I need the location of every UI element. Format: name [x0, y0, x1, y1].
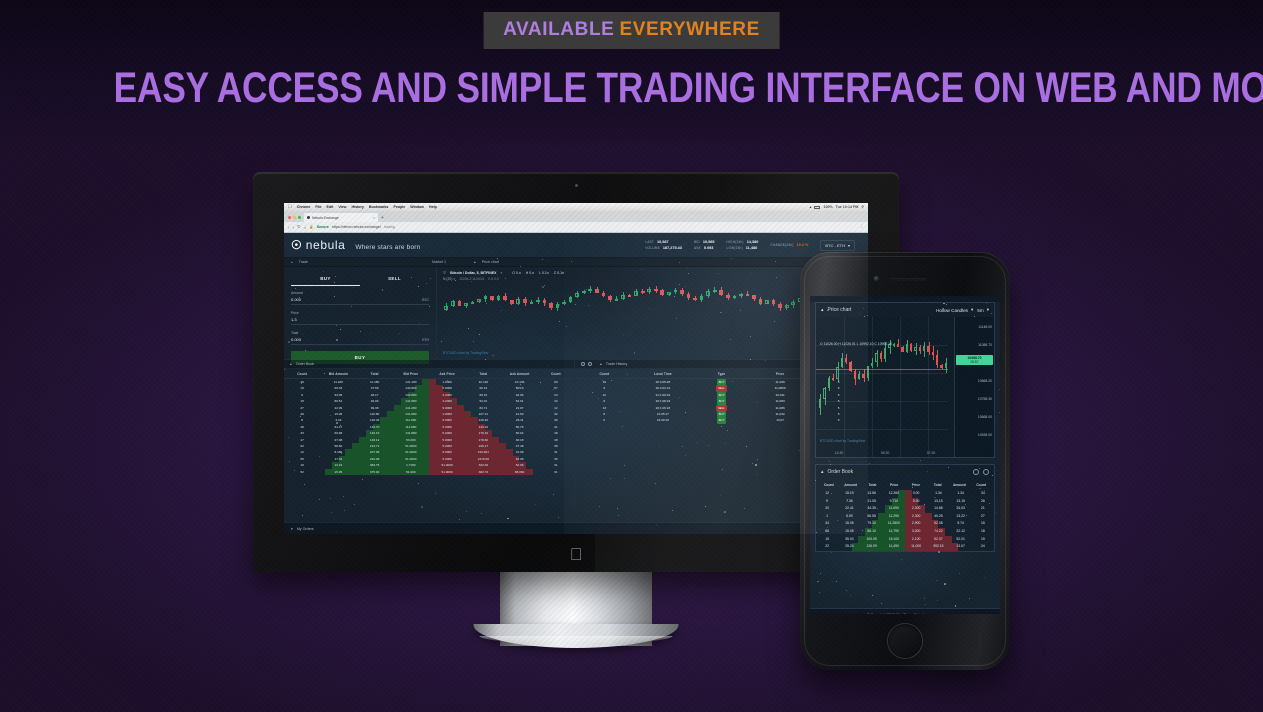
phone-ob-cell: 86.10: [861, 528, 883, 536]
home-icon[interactable]: ⌂: [304, 225, 307, 230]
price-chart-collapse-icon[interactable]: ▴: [474, 260, 476, 264]
order-book-columns: CountBid AmountTotalBid PriceAsk PriceTo…: [284, 369, 574, 379]
phone-ob-col-7: Count: [970, 483, 992, 487]
chevron-down-icon[interactable]: ▾: [500, 271, 502, 275]
tab-favicon: [307, 216, 310, 219]
history-price: 13,07: [751, 417, 810, 423]
phone-front-camera-icon: [874, 276, 879, 281]
phone-ob-cell: 13,15: [950, 498, 972, 506]
brand-tagline: Where stars are born: [355, 244, 420, 251]
order-book-col-4: Ask Price: [429, 372, 465, 376]
chart-credit-link[interactable]: BTCUSD chart by TradingView: [443, 351, 488, 355]
history-time: 21:00:10: [634, 417, 693, 423]
mac-menubar[interactable]:  Chrome File Edit View History Bookmark…: [284, 203, 868, 211]
ticker-label-change: CHANGE(24h): [770, 243, 793, 247]
trade-history-col-1: Local Time: [634, 372, 693, 376]
brand-name: nebula: [306, 238, 346, 252]
phone-ob-cell: 22.41: [838, 505, 860, 513]
phone-price-chart-collapse-icon[interactable]: ▴: [821, 307, 824, 313]
phone-ob-cell: 15.19: [838, 490, 860, 498]
exchange-app: ☉ nebula Where stars are born LAST10,987…: [284, 233, 868, 534]
trading-workspace: BUY SELL Amount 0.000 BTC: [284, 267, 868, 359]
order-book-collapse-icon[interactable]: ▴: [290, 362, 292, 366]
phone-ob-cell: 11.690: [883, 505, 905, 513]
phone-ob-cell: 35.03: [838, 536, 860, 544]
ticker-group-change: CHANGE(24h)10.3 %: [770, 243, 808, 247]
phone-axis-price: 11148.00: [978, 325, 992, 329]
phone-axis-price: 10668.00: [978, 415, 992, 419]
phone-ob-cell: 25.24: [838, 543, 860, 551]
phone-ob-col-5: Total: [927, 483, 949, 487]
candle-type-select[interactable]: Hollow Candles ▾: [936, 307, 973, 313]
brand-logo[interactable]: ☉ nebula Where stars are born: [291, 238, 420, 252]
phone-ob-cell: 100.05: [861, 536, 883, 544]
order-book-col-0: Count: [284, 372, 320, 376]
new-tab-button[interactable]: +: [381, 215, 384, 222]
phone-ob-cell: 1.34: [950, 490, 972, 498]
phone-ob-col-3: Price: [883, 483, 905, 487]
phone-ob-cell: 2,300: [905, 513, 927, 521]
browser-tabstrip[interactable]: Nebula Exchange × +: [284, 211, 868, 222]
app-subbar: ▴ Trade Market 1 ▴ Price chart: [284, 258, 868, 267]
menubar-item-view[interactable]: View: [338, 205, 346, 209]
phone-axis-time: 07:30: [927, 451, 936, 455]
chevron-down-icon: ▾: [971, 307, 973, 313]
phone-ob-col-6: Amount: [949, 483, 971, 487]
phone-order-book-body[interactable]: 1215.1913.5612.2600.001.341.343497.3621.…: [816, 490, 994, 551]
chevron-down-icon: ▾: [848, 243, 850, 248]
phone-ob-cell: 44.35: [861, 505, 883, 513]
expand-icon[interactable]: [588, 362, 592, 366]
ticker-value-last: 10,987: [657, 240, 669, 244]
phone-ob-cell: 56.55: [861, 513, 883, 521]
active-tab-underline: [291, 285, 360, 286]
ticker-stats: LAST10,987 VOLUME187,275.43 BID10,985 AS…: [645, 240, 861, 251]
page-headline: EASY ACCESS AND SIMPLE TRADING INTERFACE…: [114, 64, 1150, 113]
table-row[interactable]: 1215.1913.5612.2600.001.341.3434: [816, 490, 994, 498]
browser-tab[interactable]: Nebula Exchange ×: [304, 213, 378, 222]
available-everywhere-badge: AVAILABLEEVERYWHERE: [483, 12, 780, 49]
phone-ob-cell: 52.01: [950, 536, 972, 544]
ticker-label-low: LOW(24h): [726, 246, 742, 250]
phone-axis-time: 06:30: [881, 451, 890, 455]
trade-history-body[interactable]: 19 20:3:05:28 BUY 11,296 5 9 20:2:01:21 …: [575, 379, 868, 424]
menubar-item-help[interactable]: Help: [429, 205, 437, 209]
menubar-item-window[interactable]: Window: [410, 205, 424, 209]
order-book-col-2: Total: [357, 372, 393, 376]
settings-gear-icon[interactable]: [973, 469, 979, 475]
phone-ob-cell: 1.34: [927, 490, 949, 498]
phone-ob-cell: 20,03: [950, 505, 972, 513]
order-book-panel: ▴ Order Book CountBid AmountTotalBid Pri…: [284, 360, 574, 507]
badge-word-everywhere: EVERYWHERE: [619, 19, 759, 40]
history-type: BUY: [692, 417, 751, 423]
trade-history-col-2: Type: [692, 372, 751, 376]
pair-selector[interactable]: BTC - ETH ▾: [820, 240, 855, 251]
phone-ob-cell: 22: [816, 543, 838, 551]
ticker-group-2: BID10,985 ASK0.093: [694, 240, 715, 250]
phone-ob-cell: 34: [972, 490, 994, 498]
badge-word-available: AVAILABLE: [503, 19, 614, 40]
ticker-value-change: 10.3 %: [797, 243, 809, 247]
phone-ob-cell: 13.56: [861, 490, 883, 498]
reload-icon[interactable]: ↻: [297, 224, 301, 230]
total-unit: ETH: [422, 338, 429, 342]
battery-icon[interactable]: [814, 206, 820, 209]
total-label: Total: [291, 331, 429, 335]
phone-ob-cell: 3,000: [905, 528, 927, 536]
interval-label: 5m: [977, 308, 983, 313]
phone-ob-cell: 5.30: [905, 498, 927, 506]
forward-icon[interactable]: ›: [292, 225, 293, 230]
phone-order-book-collapse-icon[interactable]: ▴: [821, 469, 824, 475]
panel-title-price-chart: Price chart: [482, 260, 499, 264]
phone-chart-price-axis: 11148.0011088.7010968.3010868.2010758.30…: [954, 317, 994, 457]
phone-ob-cell: 5.74: [950, 520, 972, 528]
table-row[interactable]: 5215.05375.0051.00051.0000382.7388.08231: [284, 469, 574, 475]
phone-order-book-header: ▴ Order Book: [816, 465, 994, 479]
phone-axis-price: 10868.20: [978, 379, 992, 383]
phone-ob-cell: 126.09: [861, 543, 883, 551]
trade-history-tools[interactable]: [581, 362, 592, 366]
phone-ob-cell: 68: [816, 528, 838, 536]
phone-ob-cell: 1: [816, 513, 838, 521]
chart-ohlc-legend: O 0.n H 0.n L 0.1n C 0.1n: [512, 271, 564, 275]
chart-menu-icon[interactable]: ☰: [443, 271, 446, 275]
phone-price-chart-header: ▴ Price chart Hollow Candles ▾ 5m ▾: [816, 303, 994, 317]
chart-indicator-label: N (20) ×: [443, 277, 455, 281]
phone-ob-cell: 15.05: [838, 528, 860, 536]
order-book-col-6: Ask Amount: [502, 372, 538, 376]
trade-history-col-0: Count: [575, 372, 634, 376]
order-book-title: Order Book: [296, 362, 314, 366]
phone-ob-cell: 27: [972, 513, 994, 521]
phone-ob-cell: 13.22: [950, 513, 972, 521]
phone-ob-cell: 74.22: [927, 528, 949, 536]
close-window-icon[interactable]: [288, 216, 291, 219]
order-book-cell: 382.73: [465, 469, 501, 475]
market-label[interactable]: Market 1: [432, 260, 446, 264]
menubar-item-bookmarks[interactable]: Bookmarks: [369, 205, 389, 209]
total-input[interactable]: 0.000: [291, 337, 301, 342]
address-bar-url-path: trading: [384, 225, 395, 229]
chevron-down-icon: ▾: [987, 307, 989, 313]
phone-axis-time: 14:30: [835, 451, 844, 455]
chart-low: L 0.1n: [539, 271, 549, 275]
phone-ob-cell: 79.10: [861, 520, 883, 528]
ticker-label-high: HIGH(24h): [726, 240, 743, 244]
phone-mockup: ▴ Price chart Hollow Candles ▾ 5m ▾: [800, 252, 1010, 670]
panel-title-trade: Trade: [299, 260, 308, 264]
menubar-status-area[interactable]: ▴ 100% Tue 10:14 PM ⚲: [810, 205, 864, 209]
phone-ob-cell: 5.59: [838, 513, 860, 521]
browser-omnibox[interactable]: ‹ › ↻ ⌂ 🔒 Secure https://demo.nebula.exc…: [284, 222, 868, 233]
phone-ob-cell: 2,300: [905, 505, 927, 513]
phone-footer-copyright: © Copyright 2017 GlobTiger. All rights r…: [810, 608, 1000, 614]
phone-ob-cell: 11,490: [883, 543, 905, 551]
amount-unit: BTC: [422, 298, 429, 302]
search-icon[interactable]: ⚲: [861, 205, 864, 209]
menubar-item-people[interactable]: People: [393, 205, 405, 209]
table-row[interactable]: 1535.03100.0515.1002,10052.3752.0119: [816, 536, 994, 544]
menubar-apple-icon[interactable]: : [288, 205, 292, 210]
phone-ob-col-2: Total: [862, 483, 884, 487]
order-book-col-3: Bid Price: [393, 372, 429, 376]
order-book-cell: 51.0000: [429, 469, 465, 475]
phone-ob-cell: 12: [816, 490, 838, 498]
phone-current-time: 05:57: [956, 360, 993, 364]
order-book-cell: 52: [284, 469, 320, 475]
tab-sell[interactable]: SELL: [360, 273, 429, 285]
phone-ob-col-4: Price: [905, 483, 927, 487]
phone-ob-cell: 22.12: [950, 528, 972, 536]
ticker-value-volume: 187,275.43: [663, 246, 682, 250]
table-row[interactable]: 6815.0586.1011,7903,00074.2222.1218: [816, 528, 994, 536]
table-row[interactable]: 3415.0579.1011,28002,90052.085.7415: [816, 520, 994, 528]
chart-symbol[interactable]: Bitcoin / Dollar, 5, BITFINEX: [450, 271, 496, 275]
tab-title: Nebula Exchange: [312, 216, 339, 220]
phone-ob-cell: 15: [816, 536, 838, 544]
lock-icon: 🔒: [309, 225, 313, 229]
order-book-col-7: Count: [538, 372, 574, 376]
phone-exchange-app: ▴ Price chart Hollow Candles ▾ 5m ▾: [810, 302, 1000, 614]
phone-chart-credit-link[interactable]: BTCUSD chart by TradingView: [820, 439, 865, 443]
phone-ob-cell: 15.05: [838, 520, 860, 528]
maximize-window-icon[interactable]: [298, 216, 301, 219]
trade-form-panel: BUY SELL Amount 0.000 BTC: [284, 267, 436, 359]
order-book-cell: 88.082: [502, 469, 538, 475]
secure-label: Secure: [317, 225, 329, 229]
phone-ob-cell: 24: [972, 543, 994, 551]
phone-ob-col-0: Count: [818, 483, 840, 487]
phone-order-book-card: ▴ Order Book CountAmountTotalPricePriceT…: [815, 464, 995, 552]
books-area: ▴ Order Book CountBid AmountTotalBid Pri…: [284, 359, 868, 507]
phone-ob-cell: 19: [972, 536, 994, 544]
buy-sell-tabs[interactable]: BUY SELL: [291, 273, 429, 285]
phone-chart-ohlc: O 11026.00 H 11026.01 L 10992.10 C 10992…: [820, 342, 892, 346]
ticker-group-1: LAST10,987 VOLUME187,275.43: [645, 240, 682, 250]
ticker-value-bid: 10,985: [703, 240, 715, 244]
total-field[interactable]: Total 0.000 ETH: [291, 331, 429, 345]
ticker-group-3: HIGH(24h)14,380 LOW(24h)11,486: [726, 240, 758, 250]
wifi-icon[interactable]: ▴: [810, 205, 812, 209]
phone-current-price-badge: 10968.7005:57: [956, 355, 993, 365]
table-row[interactable]: 15.5956.5511.2902,30040.2513.2227: [816, 513, 994, 521]
promo-page: AVAILABLEEVERYWHERE EASY ACCESS AND SIMP…: [0, 0, 1263, 712]
nebula-mark-icon: ☉: [291, 239, 302, 251]
order-book-cell: 15.05: [320, 469, 356, 475]
phone-earpiece-speaker: [890, 278, 926, 281]
phone-ob-cell: 12.260: [883, 490, 905, 498]
chart-open: O 0.n: [512, 271, 521, 275]
phone-ob-cell: 13.07: [950, 543, 972, 551]
my-orders-bar[interactable]: ▾ My Orders ⓘ ▾: [284, 522, 868, 534]
phone-screen: ▴ Price chart Hollow Candles ▾ 5m ▾: [810, 296, 1000, 614]
phone-ob-cell: 2,100: [905, 536, 927, 544]
table-row[interactable]: 2022.4144.3511.6902,30014.6820,0321: [816, 505, 994, 513]
phone-price-chart-title: Price chart: [828, 307, 852, 313]
minimize-window-icon[interactable]: [293, 216, 296, 219]
chart-indicator-tail: 0.5 0.5: [488, 277, 498, 281]
phone-ob-cell: 9.710: [883, 498, 905, 506]
chart-high: H 0.n: [526, 271, 534, 275]
phone-ob-cell: 11,790: [883, 528, 905, 536]
menubar-item-history[interactable]: History: [351, 205, 363, 209]
trade-history-collapse-icon[interactable]: ▴: [600, 362, 602, 366]
phone-ob-cell: 9: [816, 498, 838, 506]
order-book-col-1: Bid Amount: [320, 372, 356, 376]
phone-axis-price: 10758.30: [978, 397, 992, 401]
chart-indicator-values: 11034.2 11040.6: [459, 277, 484, 281]
address-bar-url[interactable]: https://demo.nebula.exchange/: [332, 225, 381, 229]
tab-close-icon[interactable]: ×: [373, 216, 375, 220]
my-orders-title: My Orders: [297, 527, 314, 531]
my-orders-collapse-icon[interactable]: ▾: [291, 527, 293, 531]
phone-ob-cell: 2,900: [905, 520, 927, 528]
menubar-clock[interactable]: Tue 10:14 PM: [836, 205, 859, 209]
phone-ob-cell: 392.15: [927, 543, 949, 551]
apple-logo-icon: : [569, 546, 584, 563]
phone-chart-controls[interactable]: Hollow Candles ▾ 5m ▾: [936, 307, 989, 313]
phone-ob-cell: 7.36: [838, 498, 860, 506]
phone-ob-cell: 15.100: [883, 536, 905, 544]
back-icon[interactable]: ‹: [288, 225, 289, 230]
trade-history-title: Trade History: [606, 362, 627, 366]
phone-ob-cell: 11,000: [905, 543, 927, 551]
phone-ob-cell: 52.37: [927, 536, 949, 544]
phone-ob-cell: 15: [972, 520, 994, 528]
imac-camera: [575, 184, 578, 187]
amount-input[interactable]: 0.000: [291, 297, 301, 302]
phone-ob-cell: 20: [816, 505, 838, 513]
app-header: ☉ nebula Where stars are born LAST10,987…: [284, 233, 868, 258]
ticker-value-low: 11,486: [746, 246, 757, 250]
phone-ob-col-1: Amount: [840, 483, 862, 487]
table-row[interactable]: 6 21:00:10 BUY 13,07 5: [575, 417, 868, 423]
interval-select[interactable]: 5m ▾: [977, 307, 989, 313]
price-input[interactable]: 1.3: [291, 317, 297, 322]
phone-order-book-columns: CountAmountTotalPricePriceTotalAmountCou…: [816, 479, 994, 490]
settings-gear-icon[interactable]: [581, 362, 585, 366]
phone-chart-time-axis: 14:3006:3007:30: [816, 451, 954, 455]
phone-ob-cell: 52.08: [927, 520, 949, 528]
price-label: Price: [291, 311, 429, 315]
ticker-value-high: 14,380: [747, 240, 759, 244]
order-book-cell: 51.000: [393, 469, 429, 475]
table-row[interactable]: 2225.24126.0911,49011,000392.1513.0724: [816, 543, 994, 551]
tab-buy[interactable]: BUY: [291, 273, 360, 285]
menubar-item-edit[interactable]: Edit: [327, 205, 334, 209]
ticker-label-last: LAST: [645, 240, 654, 244]
order-book-header: ▴ Order Book: [284, 360, 574, 369]
phone-ob-cell: 40.25: [927, 513, 949, 521]
price-field[interactable]: Price 1.3: [291, 311, 429, 325]
phone-ob-cell: 26: [972, 498, 994, 506]
table-row[interactable]: 97.3621.059.7105.3013,1513,1526: [816, 498, 994, 506]
pair-selector-label: BTC - ETH: [825, 243, 845, 248]
phone-ob-cell: 11.290: [883, 513, 905, 521]
menu-kebab-icon[interactable]: ⋮: [860, 224, 864, 230]
ticker-value-ask: 0.093: [704, 246, 714, 250]
menubar-item-file[interactable]: File: [315, 205, 321, 209]
phone-order-book-tools[interactable]: [973, 469, 989, 475]
phone-axis-price: 11088.70: [978, 343, 992, 347]
order-book-col-5: Total: [465, 372, 501, 376]
phone-ob-cell: 21: [972, 505, 994, 513]
phone-ob-cell: 34: [816, 520, 838, 528]
ticker-label-bid: BID: [694, 240, 700, 244]
phone-home-button[interactable]: [888, 624, 922, 658]
candle-type-label: Hollow Candles: [936, 308, 968, 313]
phone-ob-cell: 14.68: [927, 505, 949, 513]
menubar-battery-percent: 100%: [823, 205, 832, 209]
amount-field[interactable]: Amount 0.000 BTC: [291, 291, 429, 305]
order-book-cell: 375.00: [357, 469, 393, 475]
trade-collapse-icon[interactable]: ▴: [291, 260, 293, 264]
phone-order-book-title: Order Book: [828, 469, 854, 475]
chart-close: C 0.1n: [554, 271, 564, 275]
phone-ob-cell: 0.00: [905, 490, 927, 498]
phone-axis-price: 10528.00: [978, 433, 992, 437]
phone-ob-cell: 13,15: [927, 498, 949, 506]
phone-ob-cell: 21.05: [861, 498, 883, 506]
order-book-body[interactable]: 4611.18011.180141.1801.200010.14610.1466…: [284, 379, 574, 475]
expand-icon[interactable]: [983, 469, 989, 475]
menubar-item-chrome[interactable]: Chrome: [297, 205, 311, 209]
history-count: 6: [575, 417, 634, 423]
imac-screen:  Chrome File Edit View History Bookmark…: [284, 203, 868, 534]
phone-ob-cell: 18: [972, 528, 994, 536]
ticker-label-ask: ASK: [694, 246, 701, 250]
ticker-label-volume: VOLUME: [645, 246, 660, 250]
order-book-cell: 31: [538, 469, 574, 475]
history-amount: 5: [809, 417, 868, 423]
phone-ob-cell: 11,2800: [883, 520, 905, 528]
amount-label: Amount: [291, 291, 429, 295]
window-controls[interactable]: [288, 216, 301, 222]
